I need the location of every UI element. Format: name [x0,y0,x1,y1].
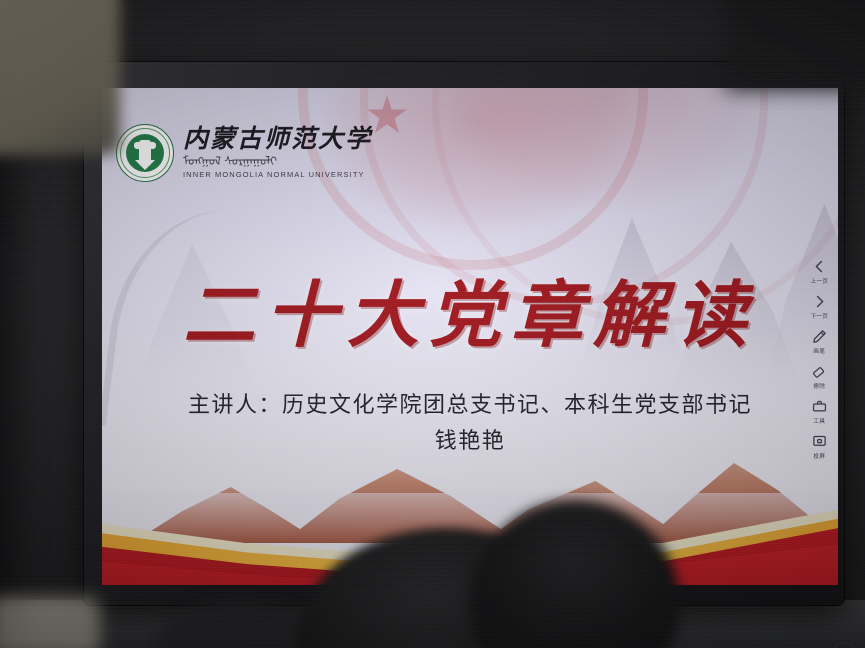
photo-scene: HiteVision [0,0,865,648]
toolbar-item-next-page[interactable]: 下一页 [804,293,834,320]
whiteboard-toolbar[interactable]: 上一页 下一页 画笔 擦除 [804,258,834,460]
toolbox-icon [811,398,828,415]
toolbar-item-pen[interactable]: 画笔 [804,328,834,355]
university-name-chinese: 内蒙古师范大学 [183,127,372,152]
university-emblem-icon [116,124,174,182]
emblem-core [126,134,164,172]
cast-screen-icon [811,433,828,450]
chevron-left-icon [811,258,828,275]
toolbar-item-cast[interactable]: 投屏 [804,433,834,460]
toolbar-item-prev-page[interactable]: 上一页 [804,258,834,285]
university-logo-text: 内蒙古师范大学 ᠮᠣᠩᠭᠣᠯ ᠰᠤᠷᠭᠠᠭᠤᠯᠢ INNER MONGOLIA … [183,127,372,179]
slide-title: 二十大党章解读 [102,256,838,361]
chevron-right-icon [811,293,828,310]
toolbar-label: 工具 [813,416,825,425]
toolbar-label: 上一页 [810,276,828,285]
university-logo: 内蒙古师范大学 ᠮᠣᠩᠭᠣᠯ ᠰᠤᠷᠭᠠᠭᠤᠯᠢ INNER MONGOLIA … [116,124,372,182]
toolbar-label: 投屏 [813,451,825,460]
toolbar-item-tools[interactable]: 工具 [804,398,834,425]
subtitle-line-1: 主讲人：历史文化学院团总支书记、本科生党支部书记 [102,388,838,422]
toolbar-label: 擦除 [813,381,825,390]
emblem-glyph-icon [139,140,151,166]
pen-icon [811,328,828,345]
ribbon-wave [102,469,838,585]
red-star-icon [366,94,408,136]
slide-footer-ribbon [102,425,838,585]
toolbar-item-eraser[interactable]: 擦除 [804,363,834,390]
toolbar-label: 画笔 [813,346,825,355]
university-name-english: INNER MONGOLIA NORMAL UNIVERSITY [183,171,372,179]
toolbar-label: 下一页 [810,311,828,320]
eraser-icon [811,363,828,380]
university-name-mongolian: ᠮᠣᠩᠭᠣᠯ ᠰᠤᠷᠭᠠᠭᠤᠯᠢ [183,155,372,167]
presentation-screen[interactable]: 内蒙古师范大学 ᠮᠣᠩᠭᠣᠯ ᠰᠤᠷᠭᠠᠭᠤᠯᠢ INNER MONGOLIA … [102,88,838,585]
room-wall-lower [0,600,865,648]
